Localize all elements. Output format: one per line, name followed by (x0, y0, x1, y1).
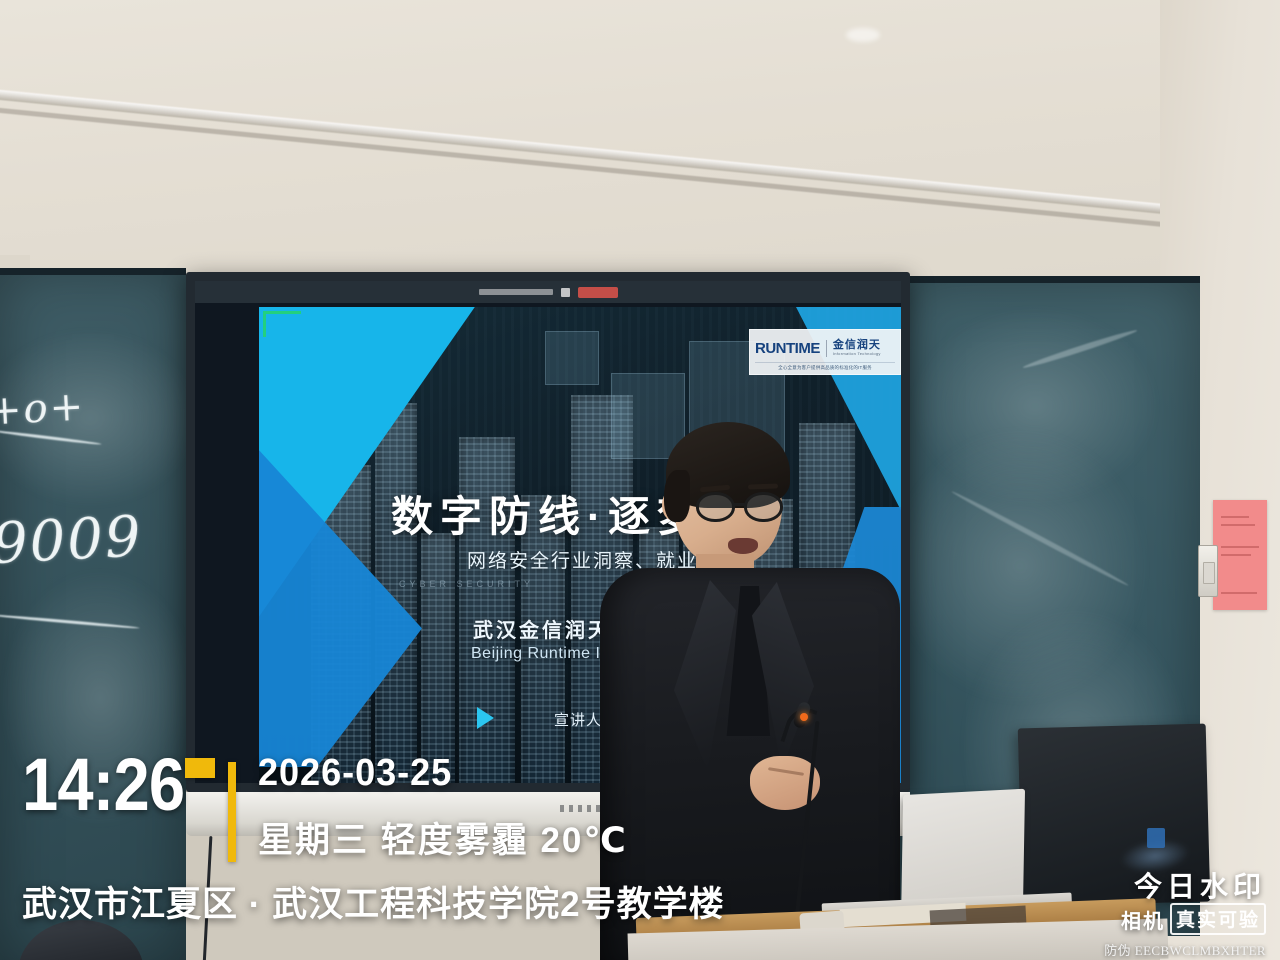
logo-tagline: 全心全意为客户提供高品质的标准化的IT服务 (755, 362, 895, 371)
logo-chinese-name: 金信润天 (833, 340, 881, 351)
watermark-date: 2026-03-25 (258, 752, 452, 795)
logo-wordmark: RUNTIME (755, 340, 820, 357)
chalk-smudge (890, 426, 1150, 706)
slide-play-triangle-icon (477, 707, 494, 729)
watermark-brand: 今日水印 相机 真实可验 防伪 EECBWCLMBXHTER (1096, 872, 1266, 959)
toolbar-record-button[interactable] (578, 287, 618, 298)
chalkboard-writing: 9009 (0, 504, 144, 577)
logo-chinese-sub: Information Technology (833, 352, 881, 356)
watermark-divider-bar (228, 762, 236, 862)
wall-seam (0, 86, 1280, 233)
chalkboard-frame (900, 276, 1200, 283)
wall-light-switch[interactable] (1198, 545, 1218, 597)
brand-row: 相机 真实可验 (1096, 903, 1266, 935)
watermark-location: 武汉市江夏区 · 武汉工程科技学院2号教学楼 (22, 876, 725, 927)
chalk-line (1022, 328, 1138, 371)
runtime-logo: RUNTIME 金信润天 Information Technology 全心全意… (749, 329, 901, 375)
slide-faint-label: CYBER SECURITY (399, 579, 534, 589)
brand-subtitle: 相机 (1121, 905, 1165, 934)
glasses-lens-right (744, 492, 783, 522)
microphone-led-icon (800, 713, 808, 721)
skyline-building (421, 533, 455, 783)
photo-canvas: +o+ 9009 (0, 0, 1280, 960)
presenter-glasses (696, 492, 788, 522)
chalkboard-left: +o+ 9009 (0, 268, 186, 960)
watermark-time: 14:26 (22, 748, 184, 822)
logo-chinese-block: 金信润天 Information Technology (833, 340, 881, 356)
presenter-eyebrow (748, 483, 778, 489)
slide-corner-marker-icon (263, 311, 301, 337)
presenter-hair-side (664, 470, 690, 522)
monitor-sticker (1147, 828, 1165, 848)
brand-title: 今日水印 (1096, 872, 1266, 901)
poster-text-line (1221, 592, 1257, 594)
brand-badge: 真实可验 (1170, 903, 1266, 935)
wall-smudge (846, 28, 880, 42)
classroom-wall (0, 0, 1280, 300)
watermark-accent-chip (185, 758, 215, 778)
slide-glass-tile (545, 331, 599, 385)
logo-divider (826, 340, 827, 357)
poster-text-line (1221, 524, 1255, 526)
chalkboard-writing-top: +o+ (0, 383, 86, 434)
logo-row: RUNTIME 金信润天 Information Technology (755, 334, 895, 362)
glasses-lens-left (696, 492, 735, 522)
poster-text-line (1221, 554, 1251, 556)
chalk-line (0, 429, 102, 445)
watermark-weather: 星期三 轻度雾霾 20℃ (258, 812, 628, 863)
wall-poster (1213, 500, 1267, 610)
presenter-mouth (728, 538, 758, 554)
toolbar-title-placeholder (479, 289, 553, 295)
wall-seam-shadow (0, 104, 1280, 246)
chalk-line (951, 489, 1130, 587)
chalk-line (0, 613, 140, 629)
watermark-anti-fake-code: 防伪 EECBWCLMBXHTER (1096, 940, 1266, 959)
display-toolbar[interactable] (195, 281, 901, 303)
poster-text-line (1221, 546, 1259, 548)
poster-text-line (1221, 516, 1249, 518)
toolbar-icon[interactable] (561, 288, 570, 297)
switch-button[interactable] (1203, 562, 1215, 584)
chalkboard-frame (0, 268, 186, 275)
